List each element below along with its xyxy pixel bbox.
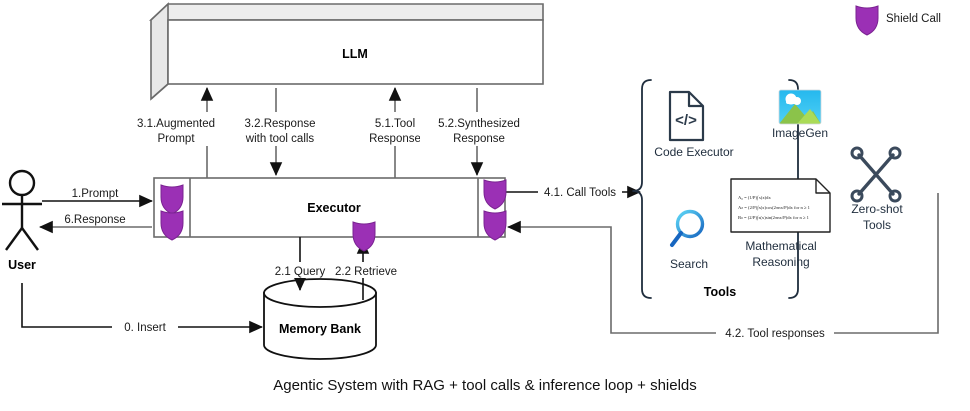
executor-label: Executor bbox=[307, 201, 361, 215]
user-node[interactable]: User bbox=[2, 171, 42, 272]
user-label: User bbox=[8, 258, 36, 272]
edge-synthesized-response: 5.2.Synthesized Response bbox=[420, 88, 542, 175]
edge-tool-responses-label: 4.2. Tool responses bbox=[725, 328, 825, 340]
tool-search-label: Search bbox=[670, 257, 708, 271]
shield-memory[interactable] bbox=[353, 222, 375, 251]
edge-call-tools: 4.1. Call Tools bbox=[505, 183, 640, 200]
edge-retrieve-label: 2.2 Retrieve bbox=[335, 266, 397, 278]
shield-icon bbox=[856, 6, 878, 35]
crossed-wrenches-icon bbox=[852, 148, 900, 201]
memory-bank-label: Memory Bank bbox=[279, 322, 361, 336]
llm-node[interactable]: LLM bbox=[151, 4, 543, 99]
tool-math-line2: Reasoning bbox=[752, 255, 809, 269]
edge-synthesized-response-line1: 5.2.Synthesized bbox=[438, 118, 520, 130]
edge-call-tools-label: 4.1. Call Tools bbox=[544, 187, 616, 199]
edge-tool-response-line2: Response bbox=[369, 133, 421, 145]
tool-imagegen[interactable]: ImageGen bbox=[772, 90, 828, 140]
edge-insert: 0. Insert bbox=[22, 283, 262, 335]
llm-label: LLM bbox=[342, 47, 368, 61]
edge-augmented-prompt-line1: 3.1.Augmented bbox=[137, 118, 215, 130]
tool-zero-shot[interactable]: Zero-shot Tools bbox=[851, 148, 903, 232]
formula-document-icon: A₀ = (1/P)∫ s(x)dx Aₙ = (2/P)∫ s(x)cos(2… bbox=[731, 179, 830, 232]
legend-shield-call: Shield Call bbox=[856, 6, 941, 35]
edge-response-tool-calls: 3.2.Response with tool calls bbox=[222, 88, 338, 175]
svg-text:</>: </> bbox=[675, 112, 697, 129]
image-picture-icon bbox=[779, 90, 821, 124]
tool-zero-shot-line2: Tools bbox=[863, 218, 891, 232]
diagram-caption: Agentic System with RAG + tool calls & i… bbox=[273, 377, 697, 394]
agentic-system-diagram: LLM Executor User Memory Bank 1.Prompt 6… bbox=[0, 0, 970, 411]
edge-insert-label: 0. Insert bbox=[124, 322, 166, 334]
code-document-icon: </> bbox=[670, 92, 703, 140]
edge-response-tool-calls-line2: with tool calls bbox=[245, 133, 315, 145]
tool-math-reasoning[interactable]: A₀ = (1/P)∫ s(x)dx Aₙ = (2/P)∫ s(x)cos(2… bbox=[731, 179, 830, 269]
edge-prompt: 1.Prompt bbox=[42, 188, 152, 201]
tools-group-label: Tools bbox=[704, 285, 736, 299]
edge-response-label: 6.Response bbox=[64, 214, 125, 226]
tool-imagegen-label: ImageGen bbox=[772, 126, 828, 140]
edge-synthesized-response-line2: Response bbox=[453, 133, 505, 145]
edge-response-tool-calls-line1: 3.2.Response bbox=[245, 118, 316, 130]
edge-prompt-label: 1.Prompt bbox=[72, 188, 119, 200]
tool-math-line1: Mathematical bbox=[745, 239, 816, 253]
tool-zero-shot-line1: Zero-shot bbox=[851, 202, 903, 216]
memory-bank-node[interactable]: Memory Bank bbox=[264, 279, 376, 359]
magnifier-icon bbox=[672, 212, 703, 246]
legend-shield-label: Shield Call bbox=[886, 13, 941, 25]
tool-search[interactable]: Search bbox=[670, 212, 708, 272]
edge-query-label: 2.1 Query bbox=[275, 266, 326, 278]
tool-code-executor-label: Code Executor bbox=[654, 145, 733, 159]
executor-node[interactable]: Executor bbox=[154, 178, 505, 237]
edge-response: 6.Response bbox=[40, 214, 152, 227]
edge-tool-response-line1: 5.1.Tool bbox=[375, 118, 415, 130]
tool-code-executor[interactable]: </> Code Executor bbox=[654, 92, 733, 159]
edge-augmented-prompt-line2: Prompt bbox=[157, 133, 195, 145]
